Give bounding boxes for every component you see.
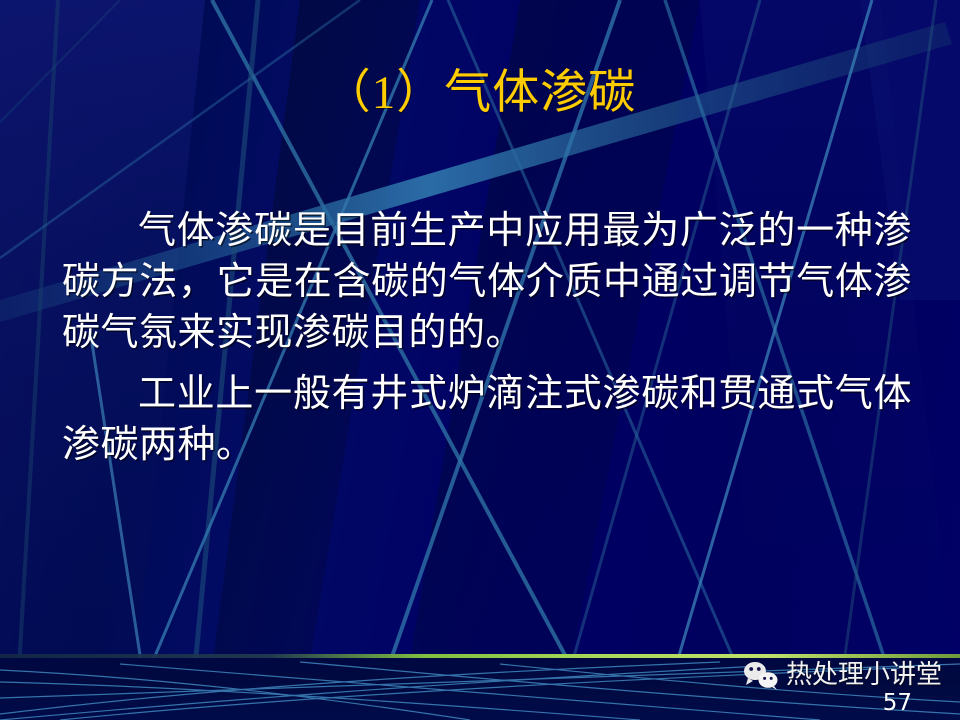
body-paragraph-2: 工业上一般有井式炉滴注式渗碳和贯通式气体渗碳两种。 [62,369,912,471]
slide-title: （1）气体渗碳 [0,68,960,120]
body-paragraph-1: 气体渗碳是目前生产中应用最为广泛的一种渗碳方法，它是在含碳的气体介质中通过调节气… [62,206,912,359]
page-number: 57 [883,690,912,716]
slide-canvas: （1）气体渗碳 气体渗碳是目前生产中应用最为广泛的一种渗碳方法，它是在含碳的气体… [0,0,960,720]
brand-lockup: 热处理小讲堂 [742,660,942,690]
slide-body: 气体渗碳是目前生产中应用最为广泛的一种渗碳方法，它是在含碳的气体介质中通过调节气… [62,206,912,473]
wechat-icon [742,660,780,690]
brand-label: 热处理小讲堂 [786,660,942,690]
